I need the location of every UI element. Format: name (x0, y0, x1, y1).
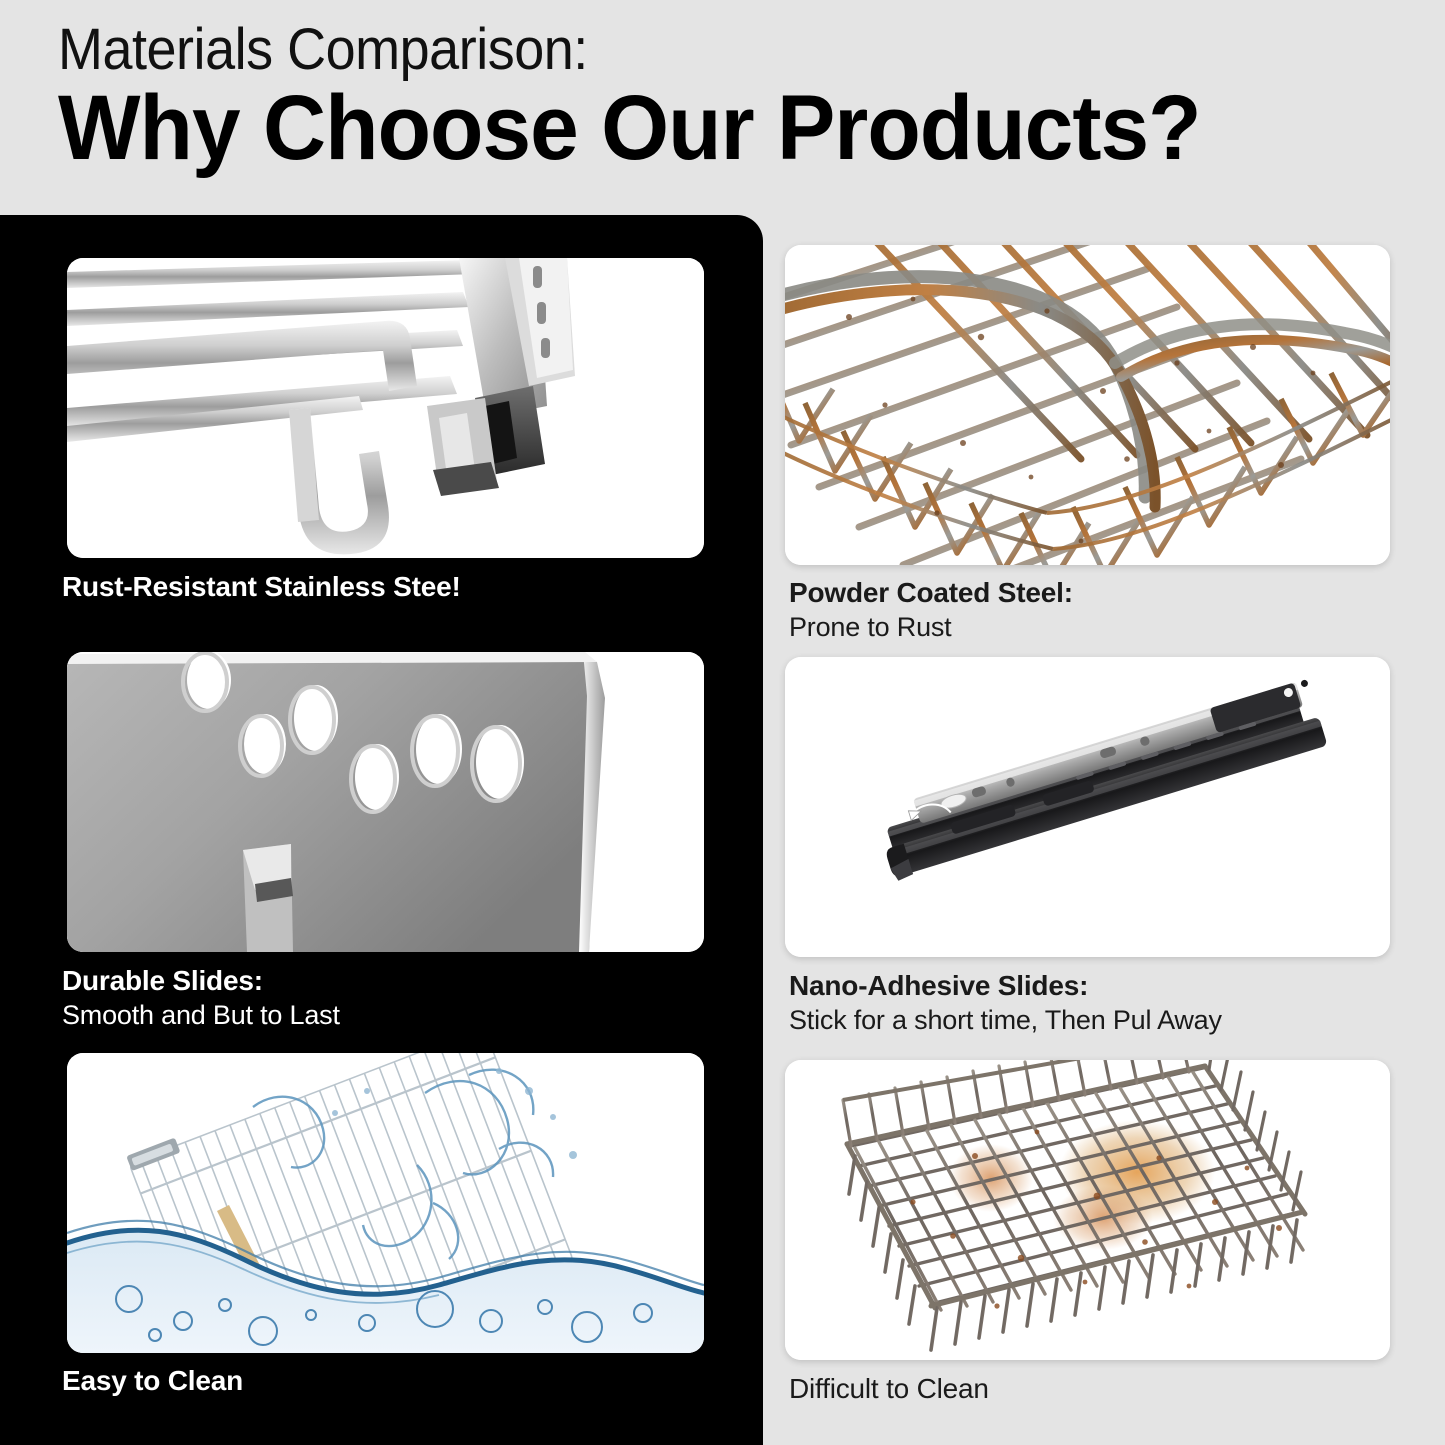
cons-caption-2-title: Nano-Adhesive Slides: (789, 970, 1222, 1002)
pros-caption-2-subtitle: Smooth and But to Last (62, 1000, 340, 1031)
pros-image-card-3 (67, 1053, 704, 1353)
pros-caption-1-title: Rust-Resistant Stainless Stee! (62, 571, 461, 603)
cons-caption-2-subtitle: Stick for a short time, Then Pul Away (789, 1005, 1222, 1036)
cons-image-card-3 (785, 1060, 1390, 1360)
pros-column: Rust-Resistant Stainless Stee! (0, 215, 763, 1445)
cons-caption-1: Powder Coated Steel: Prone to Rust (789, 577, 1073, 643)
pros-caption-3: Easy to Clean (62, 1365, 243, 1397)
infographic-header: Materials Comparison: Why Choose Our Pro… (0, 0, 1445, 215)
header-eyebrow: Materials Comparison: (58, 16, 588, 83)
chrome-wire-rack-with-slide-icon (67, 258, 704, 558)
dirty-rust-stained-wire-basket-icon (785, 1060, 1390, 1360)
wire-basket-water-splash-icon (67, 1053, 704, 1353)
cons-caption-1-subtitle: Prone to Rust (789, 612, 1073, 643)
pros-caption-1: Rust-Resistant Stainless Stee! (62, 571, 461, 603)
pros-caption-3-title: Easy to Clean (62, 1365, 243, 1397)
pros-caption-2-title: Durable Slides: (62, 965, 340, 997)
rusted-wire-mesh-basket-corner-icon (785, 245, 1390, 565)
cons-column: Powder Coated Steel: Prone to Rust (763, 215, 1445, 1445)
steel-slide-plate-with-holes-icon (67, 652, 704, 952)
cons-caption-3: Difficult to Clean (789, 1373, 989, 1405)
pros-image-card-2 (67, 652, 704, 952)
black-ball-bearing-drawer-slide-icon (785, 657, 1390, 957)
cons-image-card-1 (785, 245, 1390, 565)
page-title: Why Choose Our Products? (58, 76, 1201, 181)
pros-caption-2: Durable Slides: Smooth and But to Last (62, 965, 340, 1031)
pros-image-card-1 (67, 258, 704, 558)
cons-caption-1-title: Powder Coated Steel: (789, 577, 1073, 609)
cons-caption-2: Nano-Adhesive Slides: Stick for a short … (789, 970, 1222, 1036)
cons-caption-3-title: Difficult to Clean (789, 1373, 989, 1405)
cons-image-card-2 (785, 657, 1390, 957)
